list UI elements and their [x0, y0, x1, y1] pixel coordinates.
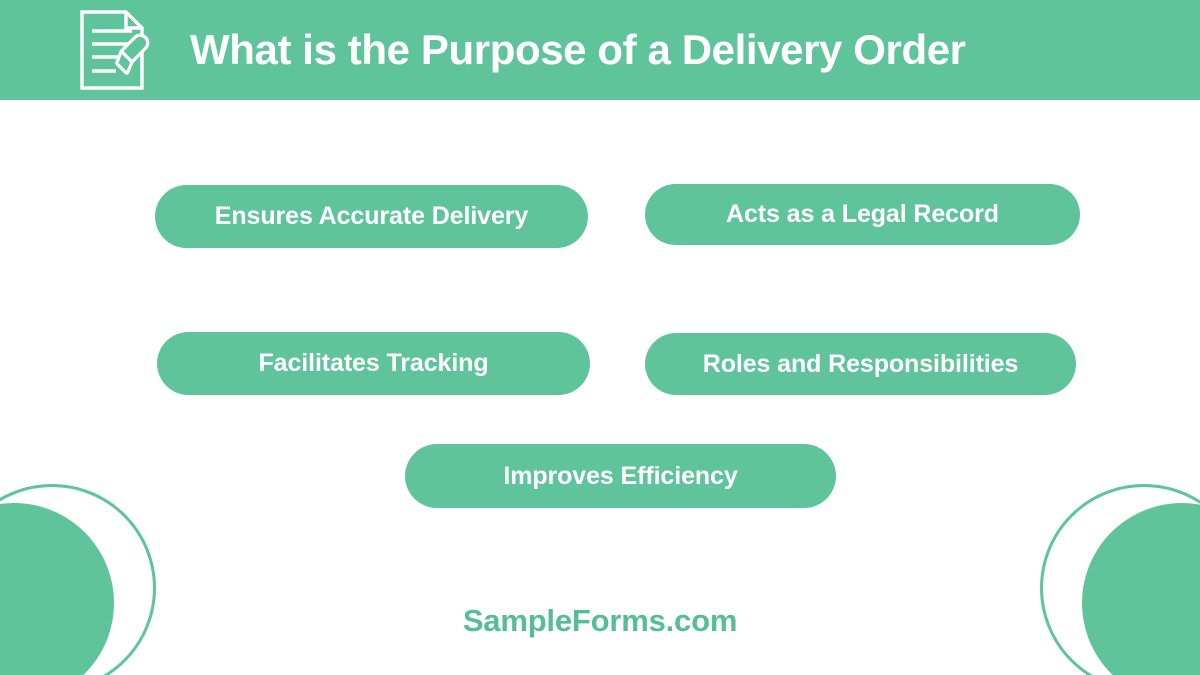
benefit-pill-ensures-accurate-delivery[interactable]: Ensures Accurate Delivery	[155, 185, 588, 248]
benefit-pill-label: Improves Efficiency	[503, 462, 737, 491]
infographic-canvas: What is the Purpose of a Delivery Order …	[0, 0, 1200, 675]
bottom-right-circle-decoration	[1082, 503, 1200, 675]
page-title: What is the Purpose of a Delivery Order	[190, 29, 966, 71]
document-pencil-icon	[78, 9, 156, 91]
bottom-left-circle-decoration	[0, 503, 114, 675]
benefit-pill-roles-and-responsibilities[interactable]: Roles and Responsibilities	[645, 333, 1076, 395]
benefit-pill-label: Facilitates Tracking	[258, 349, 488, 378]
benefit-pill-acts-as-a-legal-record[interactable]: Acts as a Legal Record	[645, 184, 1080, 245]
bottom-right-ring-decoration	[1040, 484, 1200, 675]
benefit-pill-label: Acts as a Legal Record	[726, 200, 999, 229]
brand-watermark: SampleForms.com	[0, 603, 1200, 639]
benefit-pill-label: Ensures Accurate Delivery	[215, 202, 528, 231]
benefit-pill-facilitates-tracking[interactable]: Facilitates Tracking	[157, 332, 590, 395]
header-bar: What is the Purpose of a Delivery Order	[0, 0, 1200, 100]
benefit-pill-label: Roles and Responsibilities	[703, 350, 1019, 379]
bottom-left-ring-decoration	[0, 484, 156, 675]
benefit-pill-improves-efficiency[interactable]: Improves Efficiency	[405, 444, 836, 508]
